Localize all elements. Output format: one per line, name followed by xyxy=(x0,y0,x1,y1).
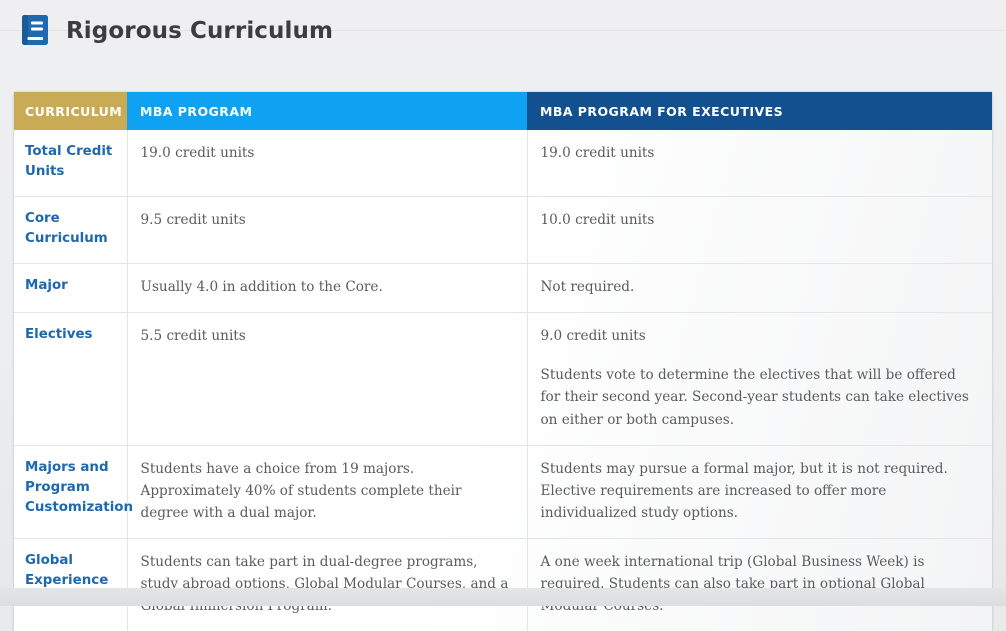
cell-paragraph: Students have a choice from 19 majors. A… xyxy=(141,458,511,524)
table-row: Total Credit Units19.0 credit units19.0 … xyxy=(14,130,992,197)
row-label: Total Credit Units xyxy=(14,130,127,197)
row-label: Core Curriculum xyxy=(14,197,127,264)
cell-emba: Not required. xyxy=(527,264,992,313)
page-header: Rigorous Curriculum xyxy=(0,0,1006,62)
curriculum-table: CURRICULUM MBA PROGRAM MBA PROGRAM FOR E… xyxy=(14,92,992,631)
table-header-row: CURRICULUM MBA PROGRAM MBA PROGRAM FOR E… xyxy=(14,92,992,130)
table-row: Global ExperienceStudents can take part … xyxy=(14,538,992,631)
page-root: Rigorous Curriculum CURRICULUM MBA PROGR… xyxy=(0,0,1006,606)
table-body: Total Credit Units19.0 credit units19.0 … xyxy=(14,130,992,631)
cell-paragraph: A one week international trip (Global Bu… xyxy=(541,551,977,617)
bottom-edge xyxy=(0,588,1006,606)
row-label: Majors and Program Customization xyxy=(14,445,127,538)
cell-mba: 9.5 credit units xyxy=(127,197,527,264)
cell-mba: Usually 4.0 in addition to the Core. xyxy=(127,264,527,313)
cell-mba: 19.0 credit units xyxy=(127,130,527,197)
column-header-mba-program-for-executives: MBA PROGRAM FOR EXECUTIVES xyxy=(527,92,992,130)
cell-paragraph: 5.5 credit units xyxy=(141,325,511,347)
cell-paragraph: Students vote to determine the electives… xyxy=(541,364,977,430)
cell-paragraph: Students may pursue a formal major, but … xyxy=(541,458,977,524)
cell-paragraph: Students can take part in dual-degree pr… xyxy=(141,551,511,617)
table-row: Majors and Program CustomizationStudents… xyxy=(14,445,992,538)
cell-emba: 10.0 credit units xyxy=(527,197,992,264)
cell-paragraph: Not required. xyxy=(541,276,977,298)
row-label: Major xyxy=(14,264,127,313)
table-header: CURRICULUM MBA PROGRAM MBA PROGRAM FOR E… xyxy=(14,92,992,130)
cell-paragraph: 9.0 credit units xyxy=(541,325,977,347)
cell-mba: Students have a choice from 19 majors. A… xyxy=(127,445,527,538)
table-row: Electives5.5 credit units9.0 credit unit… xyxy=(14,313,992,445)
page-title: Rigorous Curriculum xyxy=(66,18,333,44)
cell-emba: Students may pursue a formal major, but … xyxy=(527,445,992,538)
cell-paragraph: 19.0 credit units xyxy=(541,142,977,164)
table-row: MajorUsually 4.0 in addition to the Core… xyxy=(14,264,992,313)
table-row: Core Curriculum9.5 credit units10.0 cred… xyxy=(14,197,992,264)
cell-mba: Students can take part in dual-degree pr… xyxy=(127,538,527,631)
cell-mba: 5.5 credit units xyxy=(127,313,527,445)
cell-emba: 9.0 credit unitsStudents vote to determi… xyxy=(527,313,992,445)
cell-emba: 19.0 credit units xyxy=(527,130,992,197)
row-label: Global Experience xyxy=(14,538,127,631)
column-header-mba-program: MBA PROGRAM xyxy=(127,92,527,130)
book-icon xyxy=(22,15,48,45)
cell-paragraph: 19.0 credit units xyxy=(141,142,511,164)
curriculum-table-container: CURRICULUM MBA PROGRAM MBA PROGRAM FOR E… xyxy=(14,92,992,631)
cell-emba: A one week international trip (Global Bu… xyxy=(527,538,992,631)
cell-paragraph: 10.0 credit units xyxy=(541,209,977,231)
column-header-curriculum: CURRICULUM xyxy=(14,92,127,130)
cell-paragraph: 9.5 credit units xyxy=(141,209,511,231)
cell-paragraph: Usually 4.0 in addition to the Core. xyxy=(141,276,511,298)
row-label: Electives xyxy=(14,313,127,445)
